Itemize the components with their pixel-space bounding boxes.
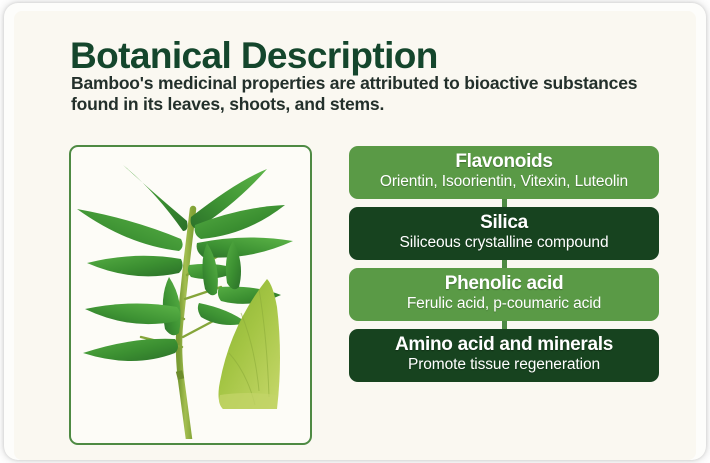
component-description: Promote tissue regeneration: [359, 356, 649, 374]
page-subtitle: Bamboo's medicinal properties are attrib…: [71, 73, 671, 114]
page-title: Botanical Description: [70, 35, 438, 77]
illustration-panel: [69, 145, 312, 445]
bamboo-stem-node: [179, 371, 181, 379]
component-description: Orientin, Isoorientin, Vitexin, Luteolin: [359, 173, 649, 191]
component-box-amino-acid-and-minerals[interactable]: Amino acid and minerals Promote tissue r…: [349, 329, 659, 382]
component-title: Phenolic acid: [359, 273, 649, 295]
component-box-silica[interactable]: Silica Siliceous crystalline compound: [349, 207, 659, 260]
component-box-flavonoids[interactable]: Flavonoids Orientin, Isoorientin, Vitexi…: [349, 146, 659, 199]
component-title: Amino acid and minerals: [359, 334, 649, 356]
component-title: Flavonoids: [359, 151, 649, 173]
bioactive-component-list: Flavonoids Orientin, Isoorientin, Vitexi…: [349, 146, 659, 382]
slide-card: Botanical Description Bamboo's medicinal…: [14, 11, 696, 460]
connector-line: [502, 199, 507, 207]
component-box-phenolic-acid[interactable]: Phenolic acid Ferulic acid, p-coumaric a…: [349, 268, 659, 321]
component-description: Siliceous crystalline compound: [359, 234, 649, 252]
connector-line: [502, 260, 507, 268]
botanical-description-slide: Botanical Description Bamboo's medicinal…: [0, 0, 710, 463]
component-description: Ferulic acid, p-coumaric acid: [359, 295, 649, 313]
connector-line: [502, 321, 507, 329]
component-title: Silica: [359, 212, 649, 234]
bamboo-branch-and-shoot-illustration: [71, 147, 306, 439]
